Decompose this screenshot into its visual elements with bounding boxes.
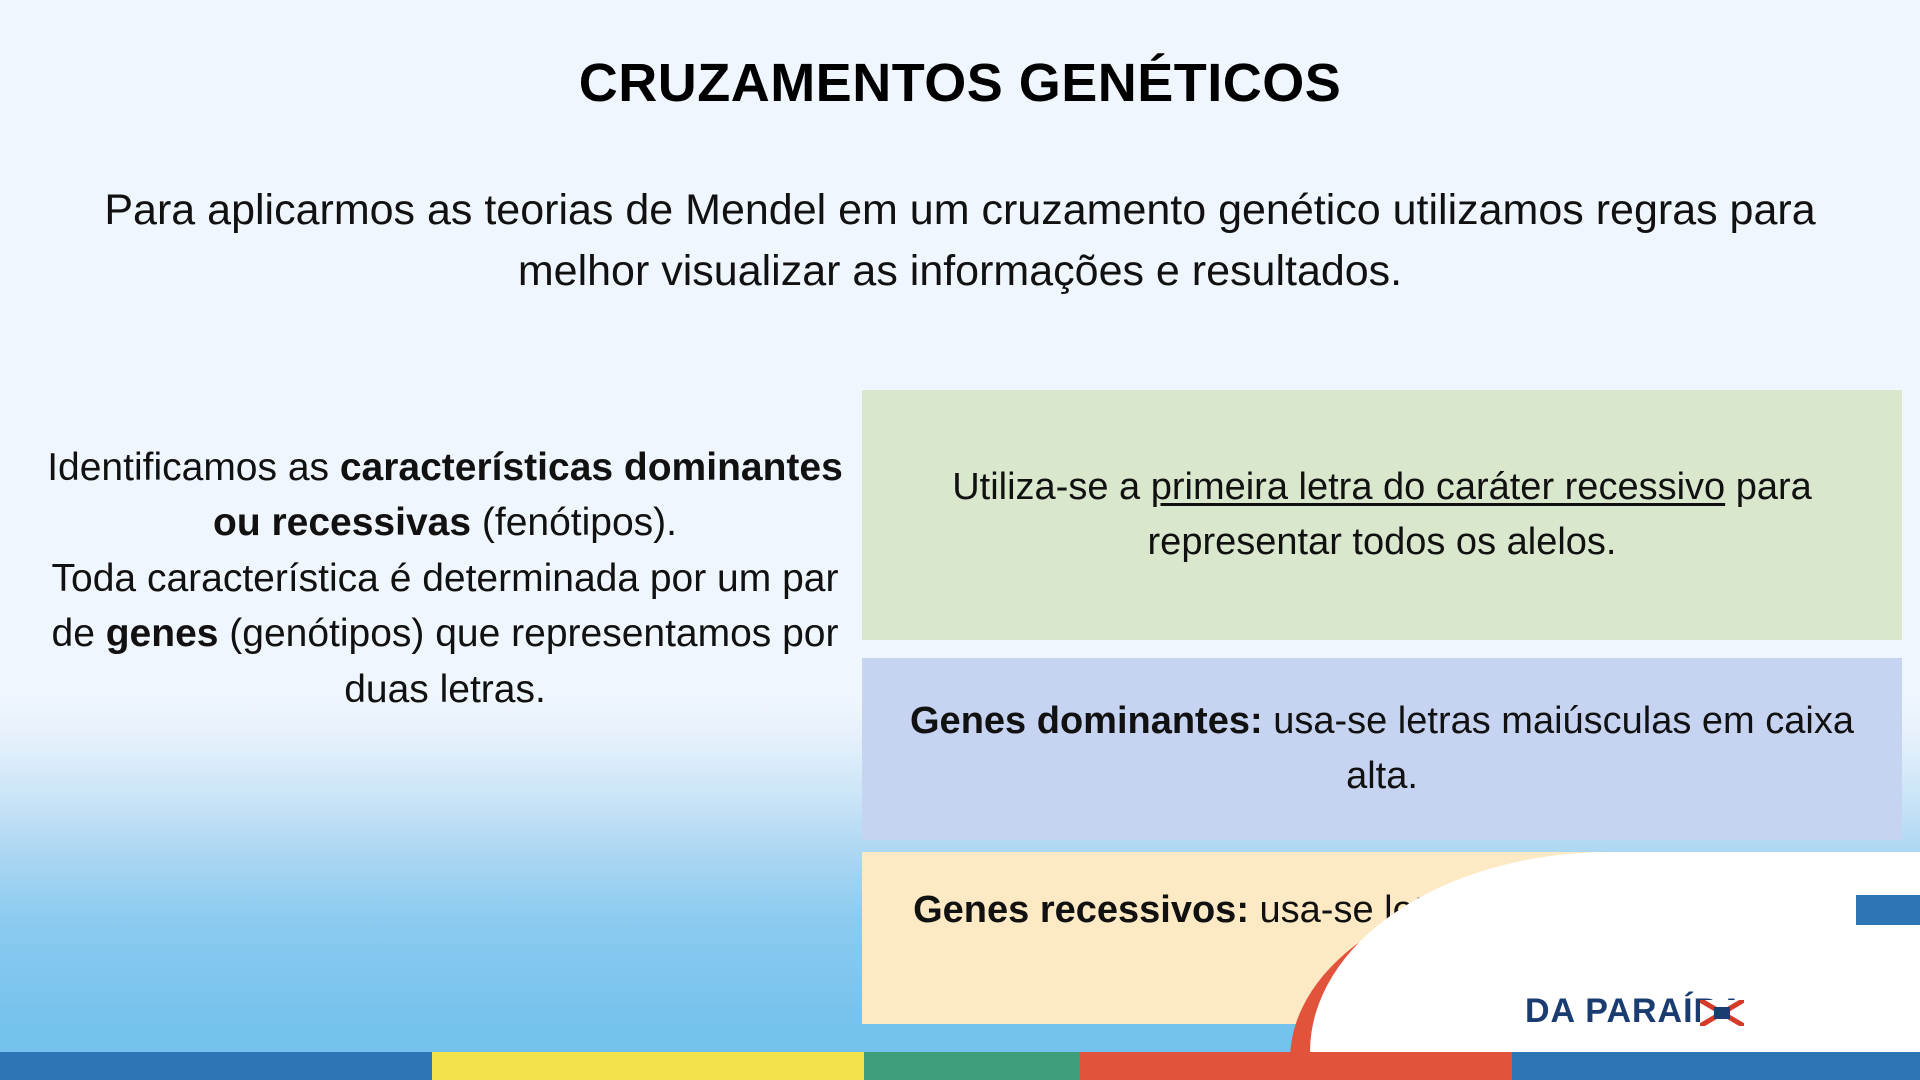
- bar-segment-5: [1512, 1052, 1920, 1080]
- callout-green-prefix: Utiliza-se a: [952, 466, 1151, 508]
- callout-blue-text: Genes dominantes: usa-se letras maiúscul…: [888, 694, 1876, 804]
- intro-paragraph: Para aplicarmos as teorias de Mendel em …: [60, 180, 1860, 302]
- callout-green-text: Utiliza-se a primeira letra do caráter r…: [888, 460, 1876, 570]
- left-column-text: Identificamos as características dominan…: [30, 440, 860, 717]
- callout-blue-body: usa-se letras maiúsculas em caixa alta.: [1263, 700, 1854, 797]
- page-title: CRUZAMENTOS GENÉTICOS: [0, 52, 1920, 114]
- left-line2-bold: genes: [106, 612, 219, 655]
- left-line2-suffix: (genótipos) que representamos por duas l…: [218, 612, 838, 710]
- callout-box-green: Utiliza-se a primeira letra do caráter r…: [862, 390, 1902, 640]
- left-line1-prefix: Identificamos as: [47, 446, 340, 489]
- decorative-blue-tab: [1856, 895, 1920, 925]
- bar-segment-3: [864, 1052, 1080, 1080]
- footer-color-bar: [0, 1052, 1920, 1080]
- callout-green-underlined: primeira letra do caráter recessivo: [1151, 466, 1725, 508]
- callout-blue-label: Genes dominantes:: [910, 700, 1263, 742]
- bar-segment-4: [1080, 1052, 1512, 1080]
- callout-yellow-label: Genes recessivos:: [913, 889, 1249, 931]
- callout-box-blue: Genes dominantes: usa-se letras maiúscul…: [862, 658, 1902, 840]
- bar-segment-2: [432, 1052, 864, 1080]
- left-line1-suffix: (fenótipos).: [471, 501, 677, 544]
- slide-canvas: CRUZAMENTOS GENÉTICOS Para aplicarmos as…: [0, 0, 1920, 1080]
- bar-segment-1: [0, 1052, 432, 1080]
- flag-icon: [1700, 1000, 1744, 1026]
